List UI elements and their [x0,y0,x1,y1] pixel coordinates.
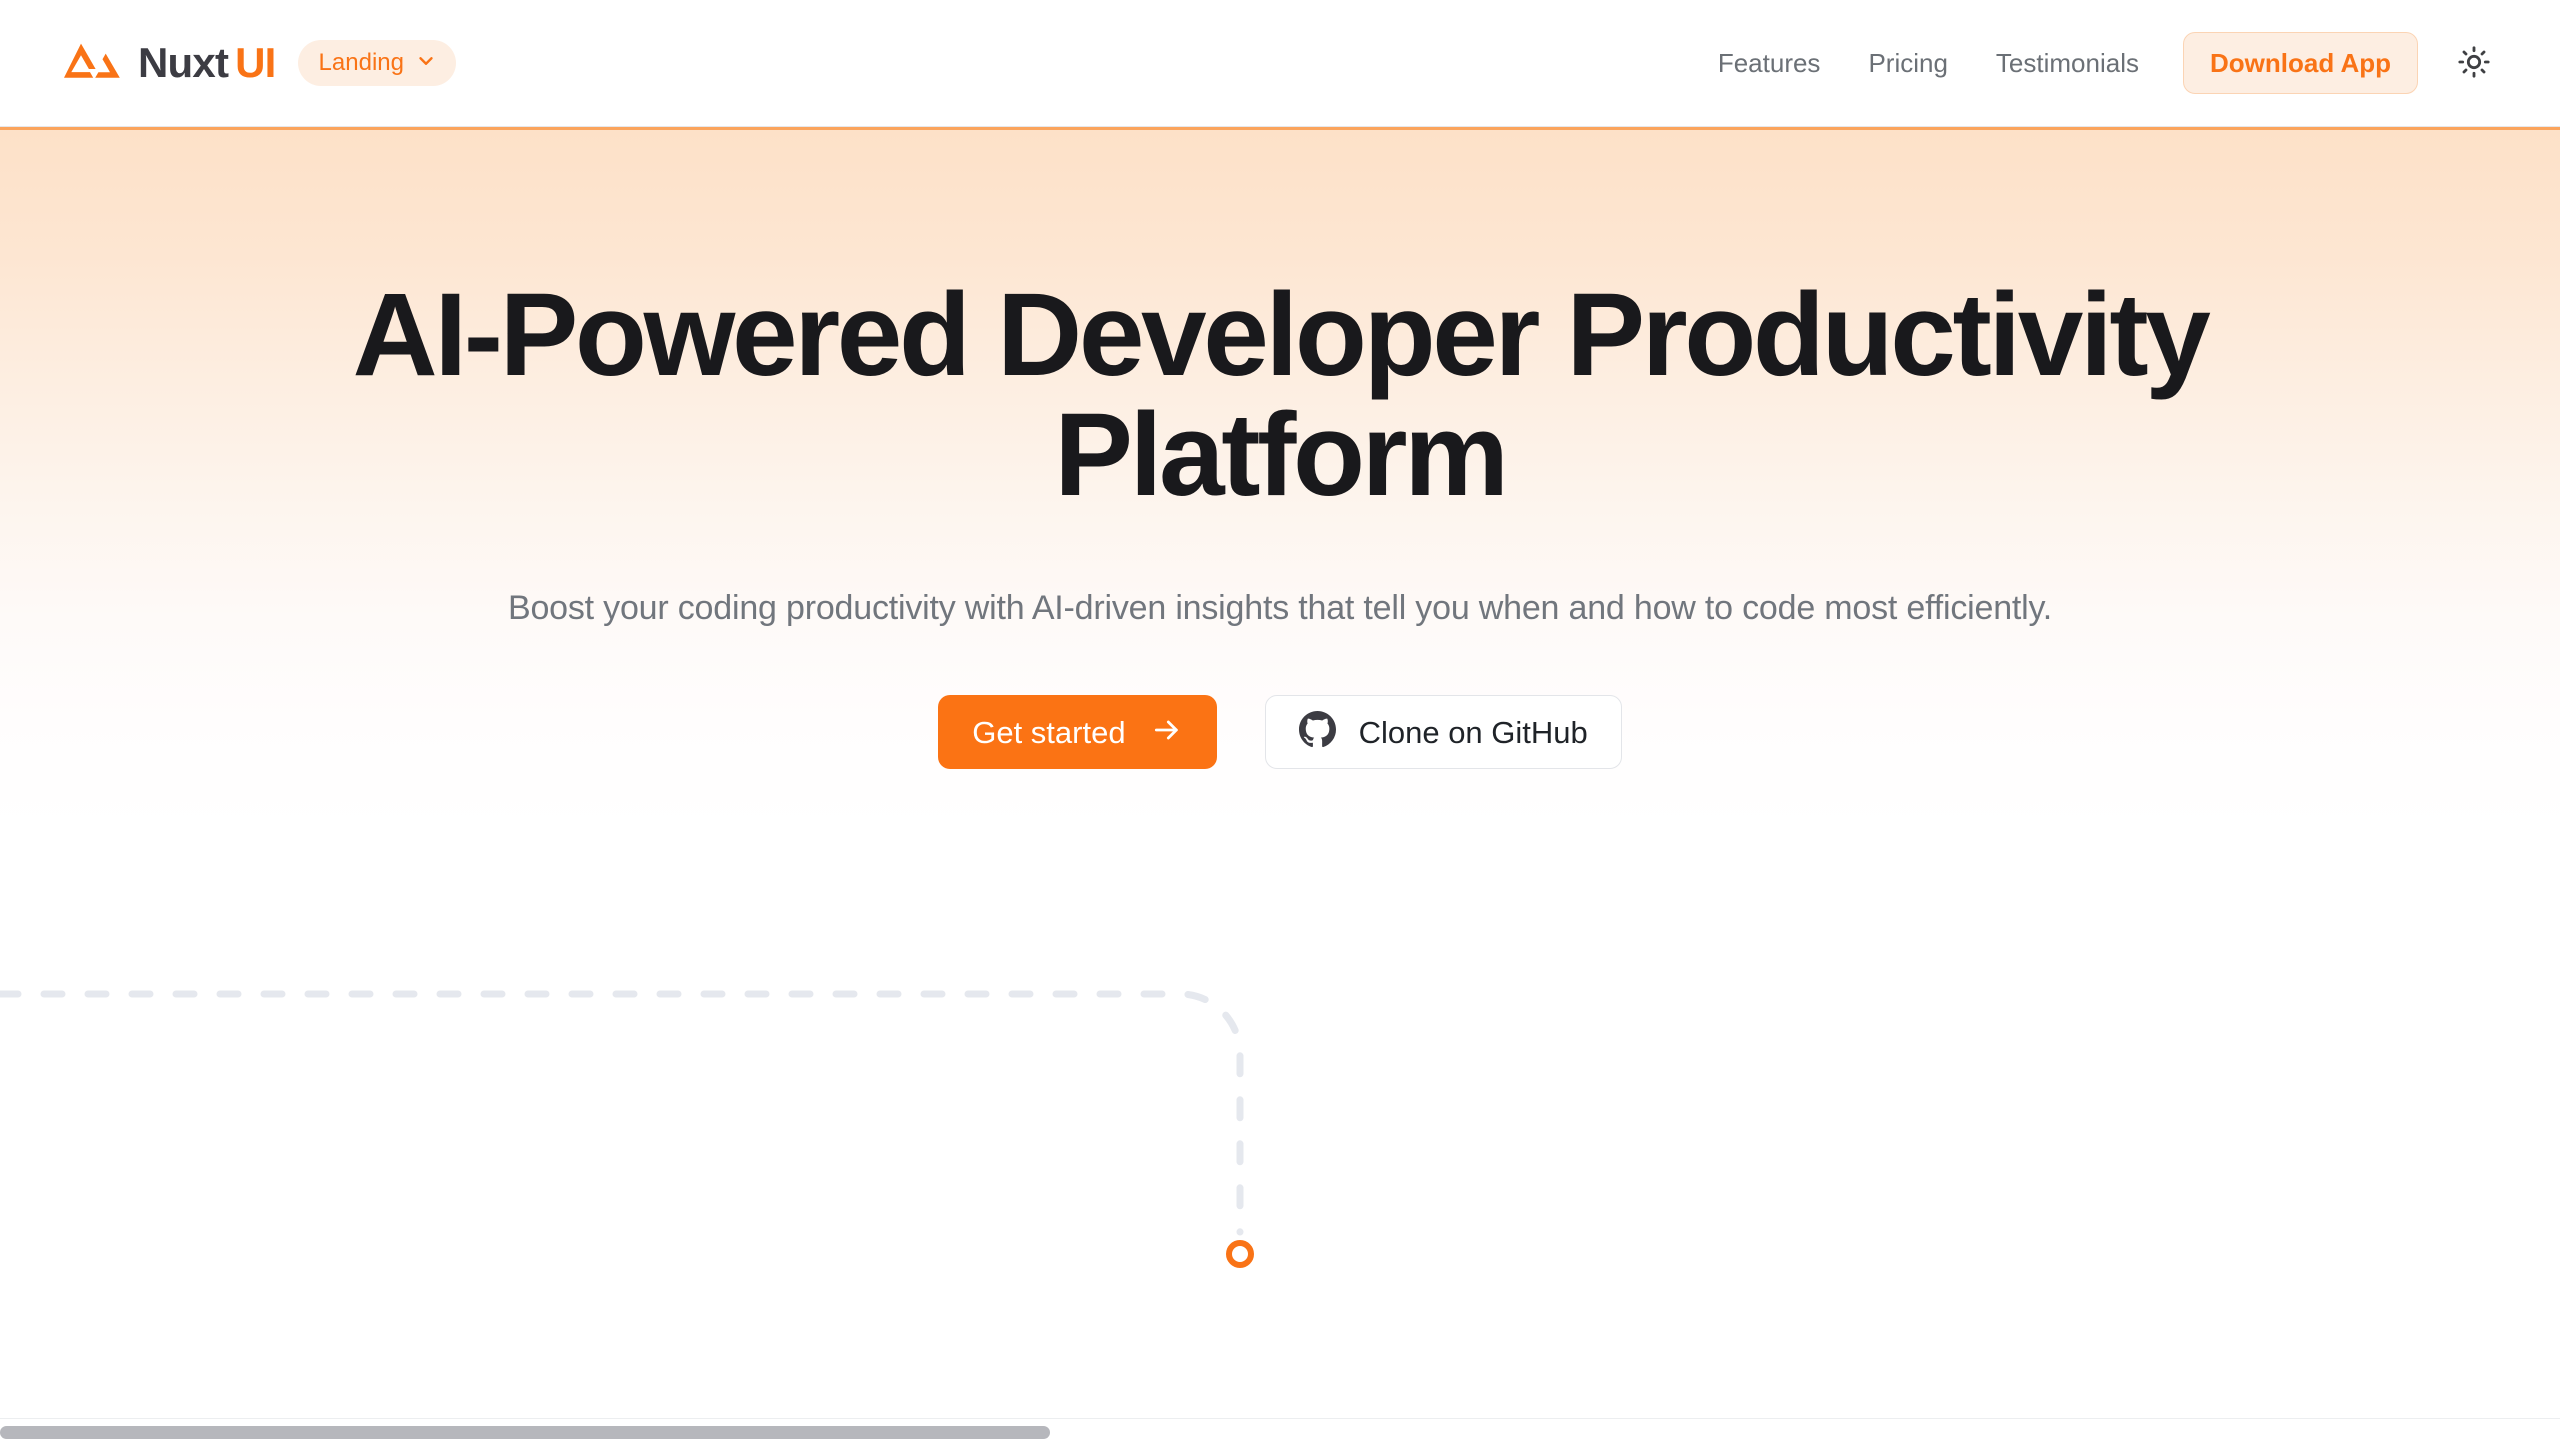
nav-link-features[interactable]: Features [1694,50,1845,76]
hero-subtitle: Boost your coding productivity with AI-d… [0,584,2560,633]
theme-toggle-button[interactable] [2448,37,2500,89]
wordmark: NuxtUI [138,42,276,84]
landing-pill-label: Landing [319,51,404,75]
nav-link-testimonials[interactable]: Testimonials [1972,50,2163,76]
sun-icon [2457,45,2491,82]
clone-on-github-button[interactable]: Clone on GitHub [1265,695,1622,769]
landing-context-dropdown[interactable]: Landing [298,40,456,86]
github-icon [1299,711,1336,753]
page-title: AI-Powered Developer Productivity Platfo… [0,275,2560,516]
horizontal-scrollbar-track[interactable] [0,1418,2560,1440]
dashed-connector-decoration [0,960,2560,1320]
wordmark-nuxt: Nuxt [138,42,228,84]
nav-link-pricing[interactable]: Pricing [1844,50,1971,76]
chevron-down-icon [415,50,437,77]
site-header: NuxtUI Landing Features Pricing Testimon… [0,0,2560,127]
logo-home-link[interactable]: NuxtUI [62,41,276,85]
download-app-button[interactable]: Download App [2183,32,2418,94]
nuxt-mountains-icon [62,41,124,85]
horizontal-scrollbar-thumb[interactable] [0,1426,1050,1439]
page-root: NuxtUI Landing Features Pricing Testimon… [0,0,2560,1440]
dashed-path-line [0,994,1240,1232]
clone-github-label: Clone on GitHub [1359,717,1588,748]
wordmark-ui: UI [235,42,275,84]
get-started-label: Get started [972,717,1125,748]
path-endpoint-marker [1229,1243,1251,1265]
primary-navigation: Features Pricing Testimonials Download A… [1694,32,2500,94]
hero-cta-group: Get started Clone on GitHub [0,695,2560,769]
get-started-button[interactable]: Get started [938,695,1216,769]
arrow-right-icon [1151,714,1183,751]
brand-area: NuxtUI Landing [62,40,456,86]
hero-section: AI-Powered Developer Productivity Platfo… [0,130,2560,769]
